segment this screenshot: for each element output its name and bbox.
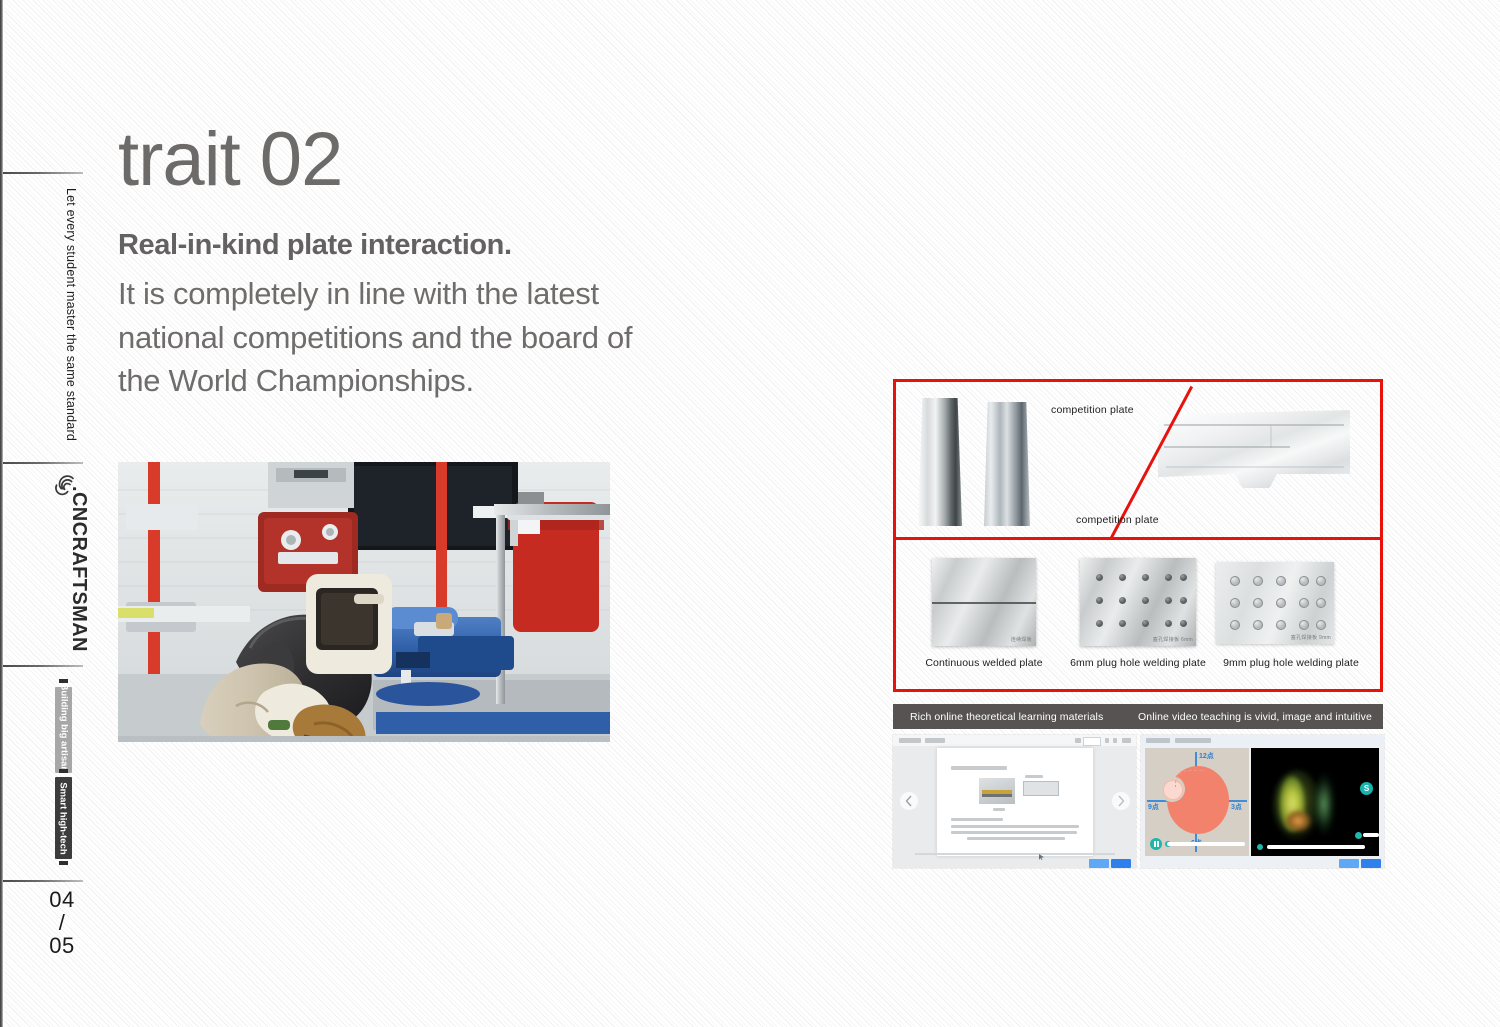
video-progress-track[interactable] bbox=[1267, 845, 1365, 849]
plate-label-continuous-welded: Continuous welded plate bbox=[902, 657, 1066, 669]
next-step-button[interactable] bbox=[1089, 859, 1109, 868]
badge-building-big-artisans: Building big artisans bbox=[55, 687, 72, 773]
page-number-total: 05 bbox=[40, 934, 84, 957]
viewer-toolbar-label-2 bbox=[925, 738, 945, 743]
caption-bar-left: Rich online theoretical learning materia… bbox=[910, 711, 1103, 723]
rail-divider-2 bbox=[3, 462, 83, 464]
competition-plates-panel: competition plate competition plate 连续焊板… bbox=[893, 379, 1383, 692]
doc-photo-caption bbox=[993, 808, 1005, 811]
doc-text-line bbox=[951, 818, 1003, 821]
caption-bar-right: Online video teaching is vivid, image an… bbox=[1138, 711, 1372, 723]
clock-label-9: 9点 bbox=[1148, 802, 1159, 812]
player-toolbar-label bbox=[1146, 738, 1170, 743]
doc-text-line bbox=[967, 837, 1065, 840]
plate-label-9mm-plug-hole: 9mm plug hole welding plate bbox=[1208, 657, 1374, 669]
brochure-page: Let every student master the same standa… bbox=[0, 0, 1500, 1027]
plate-stamp: 塞孔焊接板 9mm bbox=[1291, 634, 1331, 641]
finish-button[interactable] bbox=[1111, 859, 1131, 868]
competition-plate-cone-2 bbox=[984, 402, 1030, 526]
page-body: It is completely in line with the latest… bbox=[118, 272, 678, 403]
plate-9mm-plug-hole: 塞孔焊接板 9mm bbox=[1216, 562, 1334, 644]
clock-label-12: 12点 bbox=[1199, 751, 1214, 761]
viewer-page-input[interactable] bbox=[1083, 737, 1101, 746]
plate-stamp: 连续焊板 bbox=[1011, 636, 1032, 643]
badge-label: Smart high-tech bbox=[58, 782, 69, 854]
player-toolbar-subtitle bbox=[1175, 738, 1211, 743]
viewer-scrollbar[interactable] bbox=[915, 853, 1115, 855]
doc-diagram bbox=[1023, 781, 1059, 796]
viewer-zoom-out-icon[interactable] bbox=[1105, 738, 1109, 743]
clock-progress-track[interactable] bbox=[1167, 842, 1245, 846]
viewer-page-indicator bbox=[1075, 738, 1081, 743]
molten-pool-glow bbox=[1285, 810, 1311, 832]
chevron-left-icon[interactable] bbox=[899, 791, 919, 811]
rail-divider-1 bbox=[3, 172, 83, 174]
video-volume-handle[interactable] bbox=[1355, 832, 1362, 839]
online-courseware-viewer[interactable] bbox=[893, 735, 1136, 868]
page-kicker: trait 02 bbox=[118, 121, 342, 199]
welded-plates-row: 连续焊板 Continuous welded plate bbox=[896, 540, 1380, 689]
clock-label-3: 3点 bbox=[1231, 802, 1242, 812]
brand-block: .CNCRAFTSMAN bbox=[44, 470, 104, 670]
continue-button[interactable] bbox=[1361, 859, 1381, 868]
caption-bar: Rich online theoretical learning materia… bbox=[893, 704, 1383, 729]
page-subhead: Real-in-kind plate interaction. bbox=[118, 228, 512, 262]
arc-trail bbox=[1313, 774, 1335, 834]
plate-label-6mm-plug-hole: 6mm plug hole welding plate bbox=[1054, 657, 1222, 669]
badge-cap-top-2 bbox=[59, 769, 68, 773]
video-play-dot[interactable] bbox=[1257, 844, 1263, 850]
rail-divider-4 bbox=[3, 880, 83, 882]
pause-icon[interactable] bbox=[1150, 838, 1162, 850]
share-icon[interactable]: S bbox=[1360, 782, 1373, 795]
caption-competition-plate-top: competition plate bbox=[1051, 404, 1134, 416]
doc-text-line bbox=[951, 825, 1079, 828]
clock-position-diagram: 12点 3点 6点 9点 bbox=[1145, 748, 1249, 856]
brand-name: .CNCRAFTSMAN bbox=[67, 486, 90, 652]
viewer-zoom-in-icon[interactable] bbox=[1113, 738, 1117, 743]
plate-stamp: 塞孔焊接板 6mm bbox=[1153, 636, 1193, 643]
plate-6mm-plug-hole: 塞孔焊接板 6mm bbox=[1080, 558, 1196, 646]
competition-plates-top: competition plate competition plate bbox=[896, 382, 1380, 540]
chevron-right-icon[interactable] bbox=[1111, 791, 1131, 811]
courseware-page bbox=[937, 748, 1093, 856]
doc-heading bbox=[951, 766, 1007, 770]
welding-arc-video[interactable]: S bbox=[1251, 748, 1379, 856]
page-number: 04 / 05 bbox=[40, 888, 84, 957]
badge-cap-bottom-2 bbox=[59, 861, 68, 865]
viewer-toolbar-label bbox=[899, 738, 921, 743]
brand-tagline: Let every student master the same standa… bbox=[64, 188, 78, 441]
replay-button[interactable] bbox=[1339, 859, 1359, 868]
weld-path-dashed bbox=[1175, 770, 1204, 787]
competition-plate-cone-1 bbox=[918, 398, 962, 526]
plate-continuous-welded: 连续焊板 bbox=[932, 558, 1036, 646]
viewer-fullscreen-icon[interactable] bbox=[1122, 738, 1131, 743]
page-spine-inner bbox=[3, 0, 5, 1027]
doc-text-line bbox=[951, 831, 1077, 834]
doc-diagram-caption bbox=[1025, 775, 1043, 778]
badge-cap-top-1 bbox=[59, 679, 68, 683]
doc-photo bbox=[979, 778, 1015, 804]
caption-competition-plate-bottom: competition plate bbox=[1076, 514, 1159, 526]
badge-label: Building big artisans bbox=[58, 683, 69, 777]
online-video-teaching-player[interactable]: 12点 3点 6点 9点 S bbox=[1141, 735, 1384, 868]
page-number-current: 04 bbox=[40, 888, 84, 911]
page-number-separator: / bbox=[40, 911, 84, 934]
badge-smart-high-tech: Smart high-tech bbox=[55, 777, 72, 859]
video-volume-track[interactable] bbox=[1363, 833, 1379, 837]
competition-plate-large bbox=[1158, 410, 1350, 488]
welder-photo bbox=[118, 462, 610, 742]
